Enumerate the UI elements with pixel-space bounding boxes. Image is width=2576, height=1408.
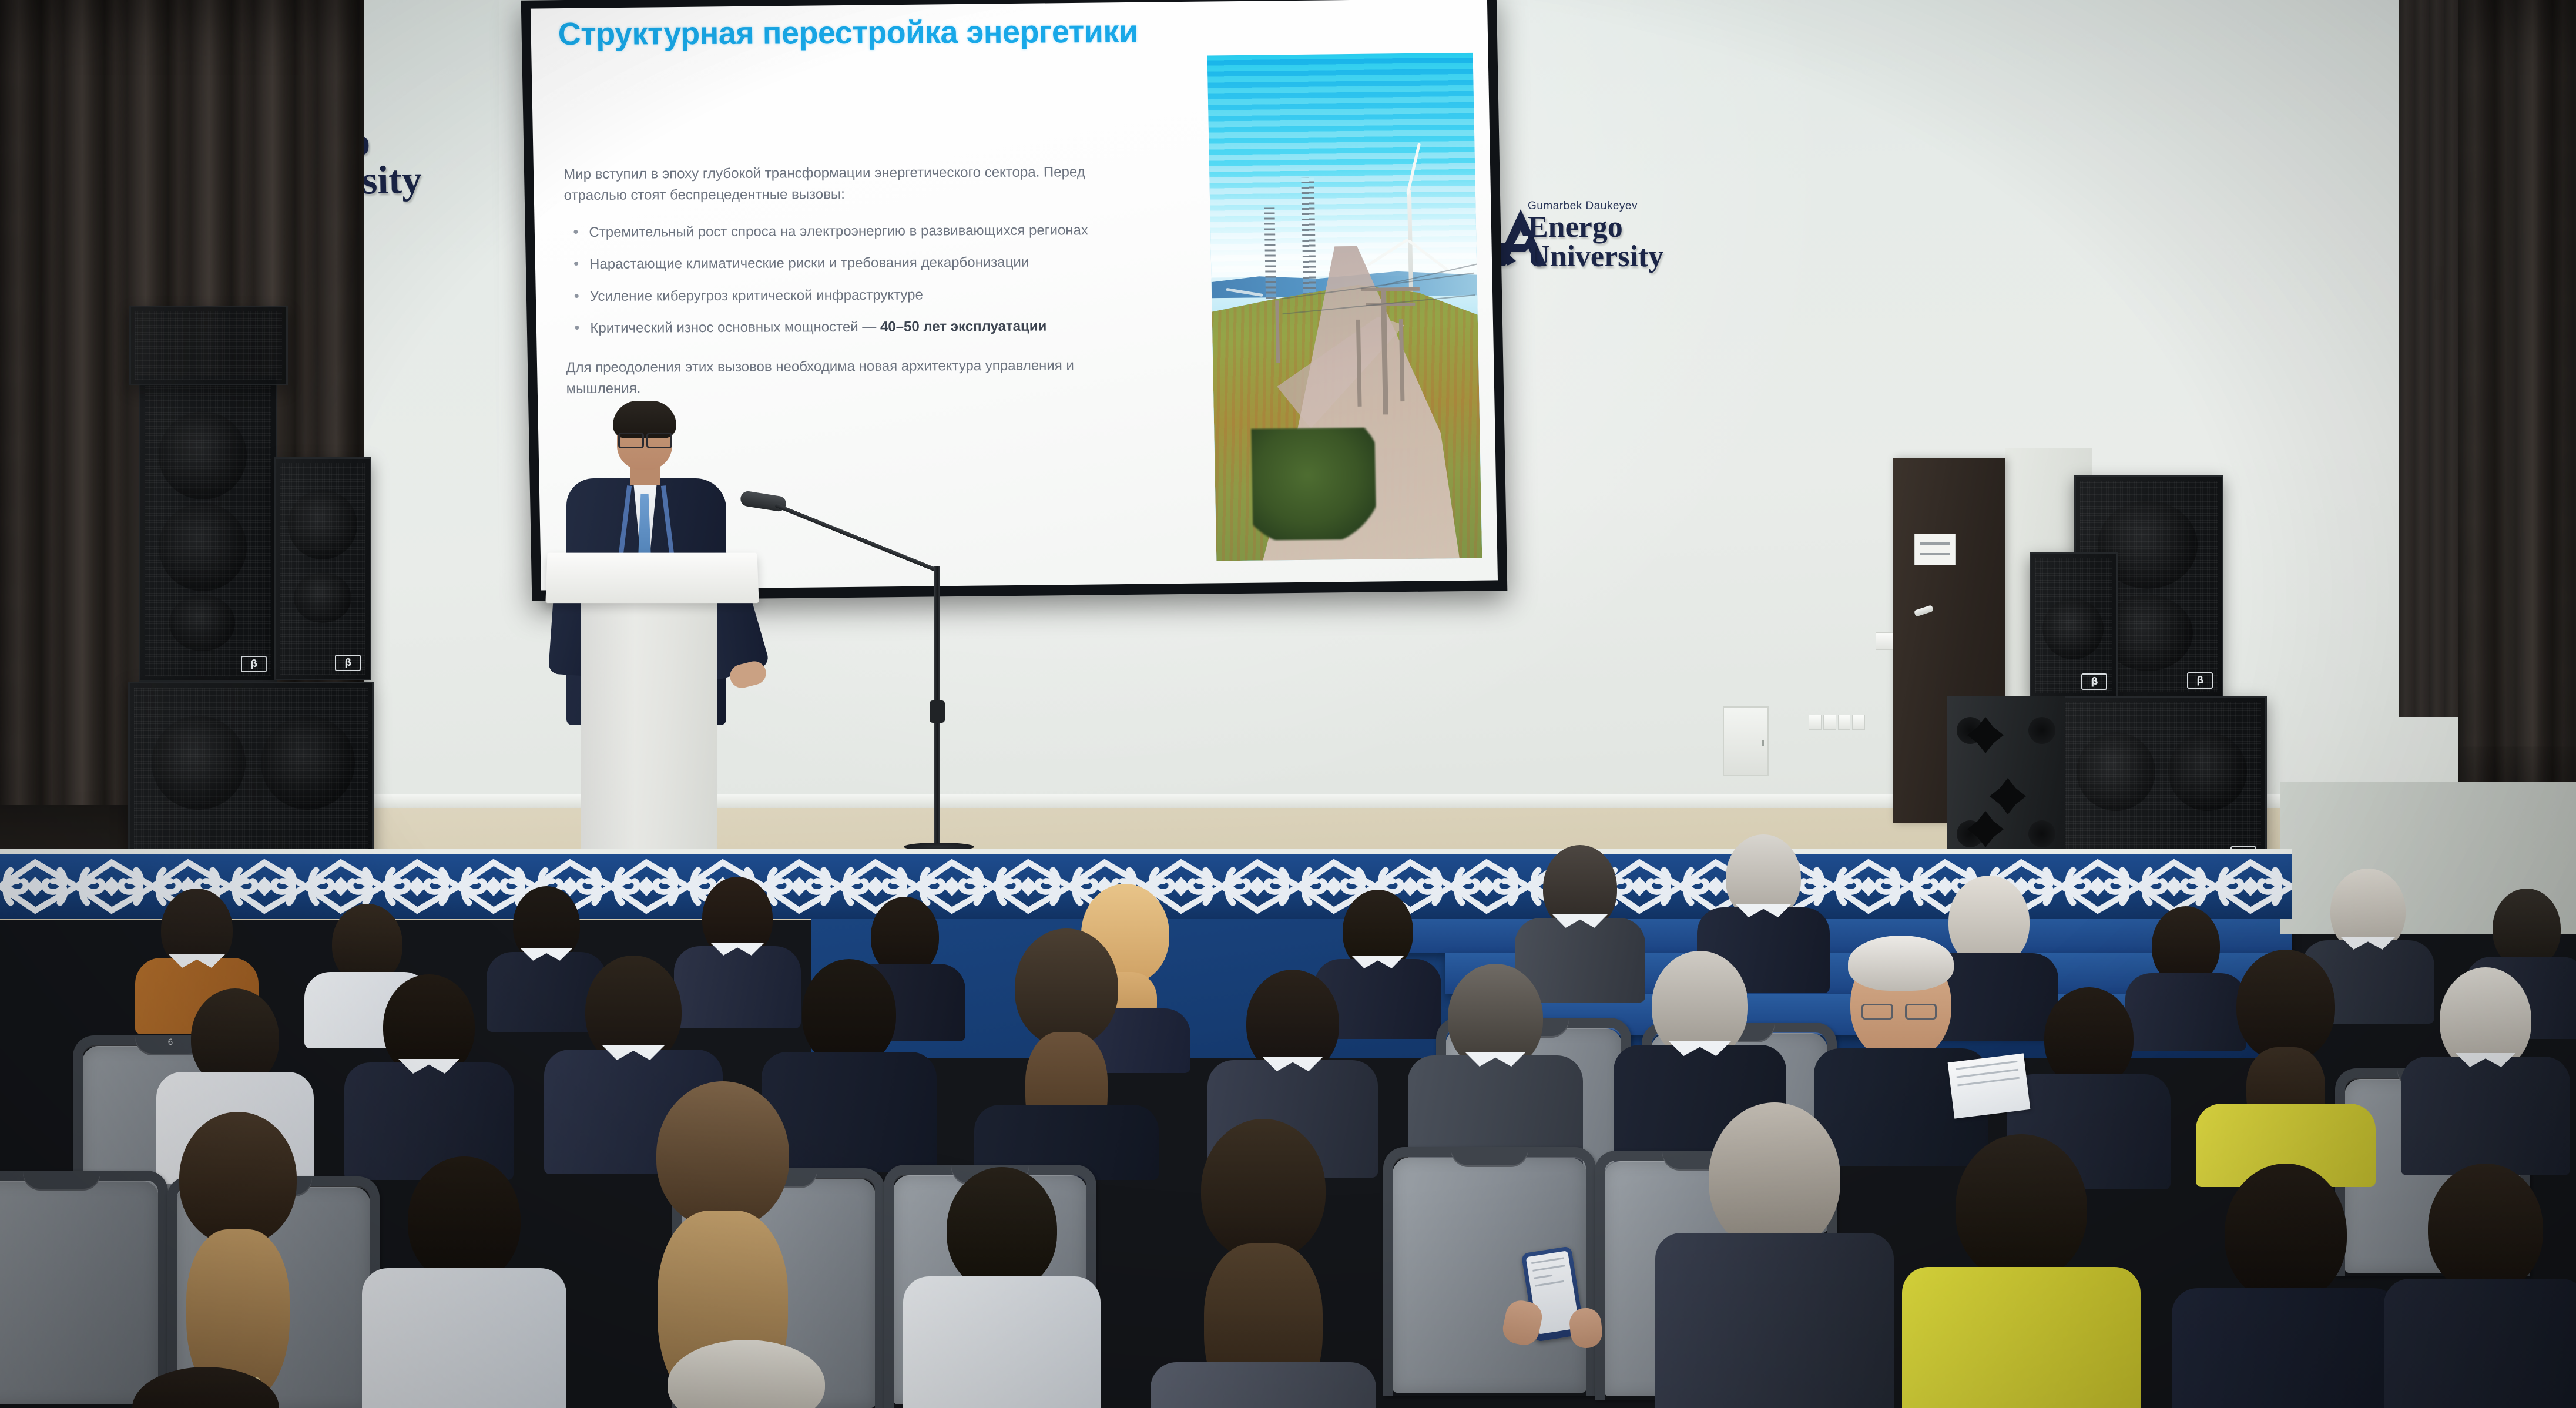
wall-outlet-4[interactable] xyxy=(1852,715,1865,730)
audience-member xyxy=(2386,1164,2576,1408)
audience-member xyxy=(347,974,511,1180)
speaker-cabinet-left-top: β xyxy=(139,376,277,682)
slide-bullet-list: Стремительный рост спроса на электроэнер… xyxy=(564,220,1118,340)
speaker-cabinet-right-mid: β xyxy=(2030,552,2118,699)
slide-body: Мир вступил в эпоху глубокой трансформац… xyxy=(563,162,1119,400)
podium-top xyxy=(545,553,759,604)
audience-member xyxy=(364,1156,564,1408)
slide-closing-paragraph: Для преодоления этих вызовов необходима … xyxy=(566,355,1119,400)
wall-outlet-2[interactable] xyxy=(1823,715,1836,730)
slide-bullet-1: Стремительный рост спроса на электроэнер… xyxy=(564,220,1117,244)
slide-bullet-4-emphasis: 40–50 лет эксплуатации xyxy=(880,319,1047,335)
audience-member xyxy=(1152,1119,1375,1408)
slide-title: Структурная перестройка энергетики xyxy=(558,14,1138,52)
audience-member-with-phone xyxy=(1657,1102,1892,1408)
cabinet-brand-badge: β xyxy=(335,655,361,671)
microphone-clamp xyxy=(930,700,945,723)
audience-area: 6 xyxy=(0,752,2576,1408)
slide-lead-paragraph: Мир вступил в эпоху глубокой трансформац… xyxy=(563,162,1116,207)
slide-bullet-4-prefix: Критический износ основных мощностей — xyxy=(590,319,880,336)
slide-bullet-3: Усиление киберугроз критической инфрастр… xyxy=(565,284,1118,308)
glasses-icon xyxy=(618,433,672,445)
audience-member xyxy=(1904,1134,2139,1408)
cabinet-brand-badge: β xyxy=(2081,673,2107,690)
wall-outlet-3[interactable] xyxy=(1838,715,1851,730)
wall-logo-right-line1: Energo xyxy=(1528,213,1663,242)
audience-member xyxy=(905,1167,1099,1408)
cabinet-brand-badge: β xyxy=(2187,672,2213,689)
slide-bullet-4: Критический износ основных мощностей — 4… xyxy=(565,316,1118,340)
stage-curtain-right xyxy=(2458,0,2576,782)
door-sign xyxy=(1914,534,1956,565)
audience-member xyxy=(611,1340,881,1408)
audience-member xyxy=(135,1112,341,1406)
handout-paper[interactable] xyxy=(1948,1053,2031,1118)
speaker-cabinet-left-rear xyxy=(129,306,288,385)
light-switch[interactable] xyxy=(1876,632,1893,650)
wall-logo-right-line2: University xyxy=(1528,242,1663,271)
stage-curtain-right-inner xyxy=(2399,0,2463,717)
audience-member xyxy=(2403,967,2568,1173)
elder-white-hair xyxy=(1848,936,1954,991)
wall-logo-right: Gumarbek Daukeyev Energo University xyxy=(1528,200,1663,272)
slide-bullet-2: Нарастающие климатические риски и требов… xyxy=(565,252,1118,276)
photo-crossarm-1 xyxy=(1361,287,1420,291)
audience-member xyxy=(1410,964,1581,1175)
audience-member xyxy=(975,928,1158,1175)
slide-photo-wind-farm xyxy=(1207,53,1482,561)
wall-outlets[interactable] xyxy=(1809,715,1865,730)
glasses-icon xyxy=(1861,1004,1937,1020)
audience-member xyxy=(2174,1164,2397,1408)
speaker-cabinet-left-mid: β xyxy=(274,457,371,680)
auditorium-scene: ​arbek Daukeyev ​nergo ​niversity Gumarb… xyxy=(0,0,2576,1408)
audience-member xyxy=(82,1367,329,1408)
audience-member xyxy=(2198,950,2374,1173)
wall-outlet-1[interactable] xyxy=(1809,715,1822,730)
photo-bush xyxy=(1251,427,1376,540)
cabinet-brand-badge: β xyxy=(241,656,267,672)
